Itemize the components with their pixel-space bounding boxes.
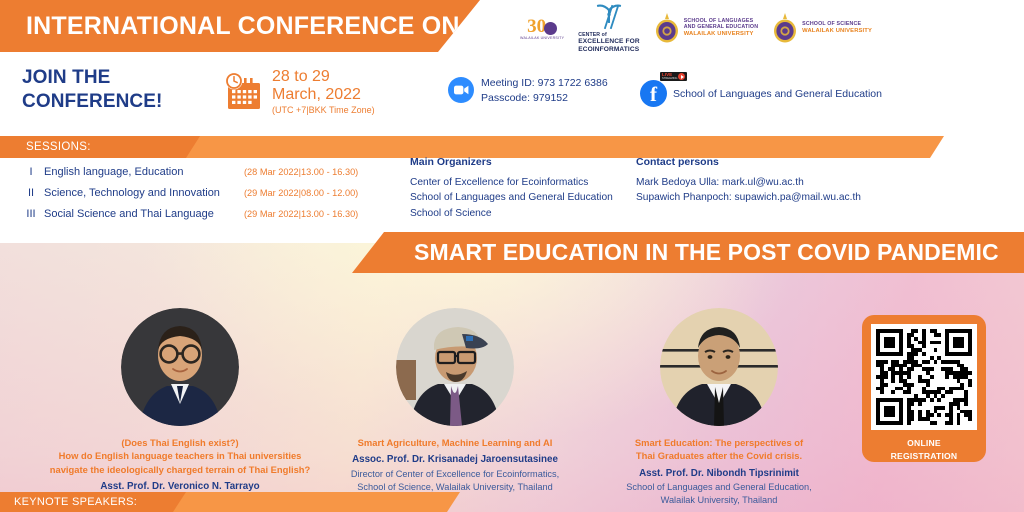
speaker-portrait-krisanadej-jaroensutasinee xyxy=(396,308,514,426)
keynote-tab: KEYNOTE SPEAKERS: xyxy=(0,492,186,512)
speaker-card: Smart Education: The perspectives of Tha… xyxy=(588,308,850,508)
qr-code-icon[interactable] xyxy=(871,324,977,430)
portrait-illustration xyxy=(396,308,514,426)
speaker-topic: (Does Thai English exist?) How do Englis… xyxy=(8,436,352,476)
speaker-affiliation: Director of Center of Excellence for Eco… xyxy=(312,468,598,494)
speaker-portrait-veronico-tarrayo xyxy=(121,308,239,426)
keynote-label: KEYNOTE SPEAKERS: xyxy=(0,496,137,508)
speaker-topic: Smart Agriculture, Machine Learning and … xyxy=(312,436,598,449)
speaker-card: Smart Agriculture, Machine Learning and … xyxy=(312,308,598,494)
speaker-name: Assoc. Prof. Dr. Krisanadej Jaroensutasi… xyxy=(312,453,598,467)
speaker-card: (Does Thai English exist?) How do Englis… xyxy=(8,308,352,508)
speaker-name: Asst. Prof. Dr. Nibondh Tipsrinimit xyxy=(588,467,850,481)
qr-code-matrix xyxy=(876,329,972,425)
registration-label-line-1: ONLINE xyxy=(871,437,977,450)
portrait-illustration xyxy=(660,308,778,426)
portrait-illustration xyxy=(121,308,239,426)
registration-label: ONLINE REGISTRATION xyxy=(871,437,977,463)
online-registration-card[interactable]: ONLINE REGISTRATION xyxy=(862,315,986,462)
speaker-affiliation: School of Languages and General Educatio… xyxy=(588,481,850,507)
registration-label-line-2: REGISTRATION xyxy=(871,450,977,463)
speaker-name: Asst. Prof. Dr. Veronico N. Tarrayo xyxy=(8,480,352,494)
speaker-topic: Smart Education: The perspectives of Tha… xyxy=(588,436,850,463)
conference-poster: INTERNATIONAL CONFERENCE ON 30 WALAILAK … xyxy=(0,0,1024,512)
speaker-portrait-nibondh-tipsrinimit xyxy=(660,308,778,426)
